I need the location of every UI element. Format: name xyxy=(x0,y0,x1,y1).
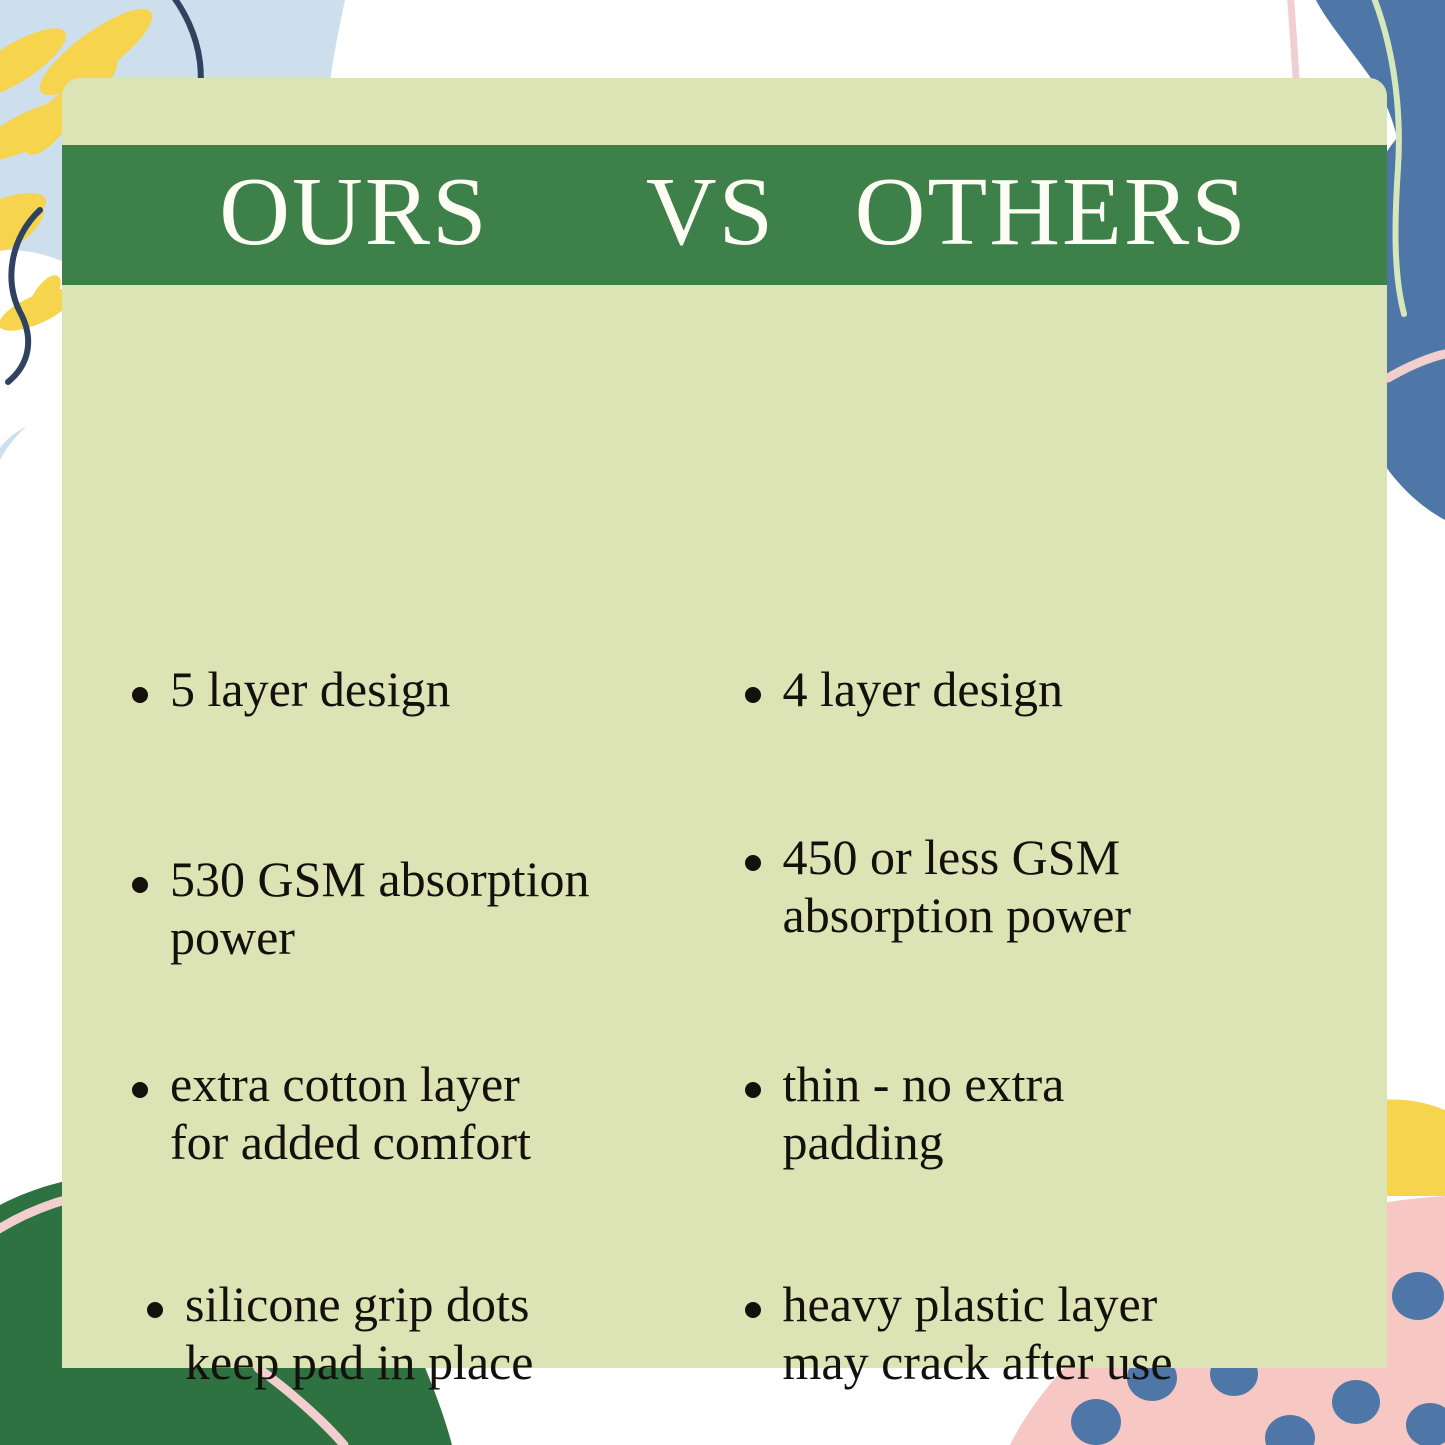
bullet-dot-icon xyxy=(147,1302,163,1318)
bullet-dot-icon xyxy=(745,855,761,871)
bullet-dot-icon xyxy=(745,1082,761,1098)
bullet-dot-icon xyxy=(132,687,148,703)
list-item: 5 layer design xyxy=(132,660,795,718)
ours-item-text: silicone grip dots keep pad in place xyxy=(185,1275,533,1391)
others-item-text: thin - no extra padding xyxy=(783,1055,1065,1171)
list-item: silicone grip dots keep pad in place xyxy=(147,1275,810,1391)
list-item: thin - no extra padding xyxy=(745,1055,1408,1171)
list-item: 530 GSM absorption power xyxy=(132,850,795,966)
poster-canvas: OURS VS OTHERS 5 layer design 530 GSM ab… xyxy=(0,0,1445,1445)
others-item-text: 4 layer design xyxy=(783,660,1063,718)
page-title: OURS VS OTHERS xyxy=(62,163,1387,261)
others-column: 4 layer design 450 or less GSM absorptio… xyxy=(725,293,1388,1368)
list-item: 4 layer design xyxy=(745,660,1408,718)
list-item: extra cotton layer for added comfort xyxy=(132,1055,795,1171)
others-item-text: heavy plastic layer may crack after use xyxy=(783,1275,1173,1391)
list-item: 450 or less GSM absorption power xyxy=(745,828,1408,944)
ours-column: 5 layer design 530 GSM absorption power … xyxy=(62,293,725,1368)
polka-dot-7 xyxy=(1071,1399,1121,1445)
ours-item-text: 530 GSM absorption power xyxy=(170,850,589,966)
comparison-card: OURS VS OTHERS 5 layer design 530 GSM ab… xyxy=(62,78,1387,1368)
bullet-dot-icon xyxy=(132,877,148,893)
ours-item-text: 5 layer design xyxy=(170,660,450,718)
bullet-dot-icon xyxy=(745,1302,761,1318)
others-item-text: 450 or less GSM absorption power xyxy=(783,828,1132,944)
comparison-columns: 5 layer design 530 GSM absorption power … xyxy=(62,293,1387,1368)
comparison-header-banner: OURS VS OTHERS xyxy=(62,145,1387,285)
list-item: heavy plastic layer may crack after use xyxy=(745,1275,1408,1391)
ours-item-text: extra cotton layer for added comfort xyxy=(170,1055,531,1171)
bullet-dot-icon xyxy=(745,687,761,703)
bullet-dot-icon xyxy=(132,1082,148,1098)
